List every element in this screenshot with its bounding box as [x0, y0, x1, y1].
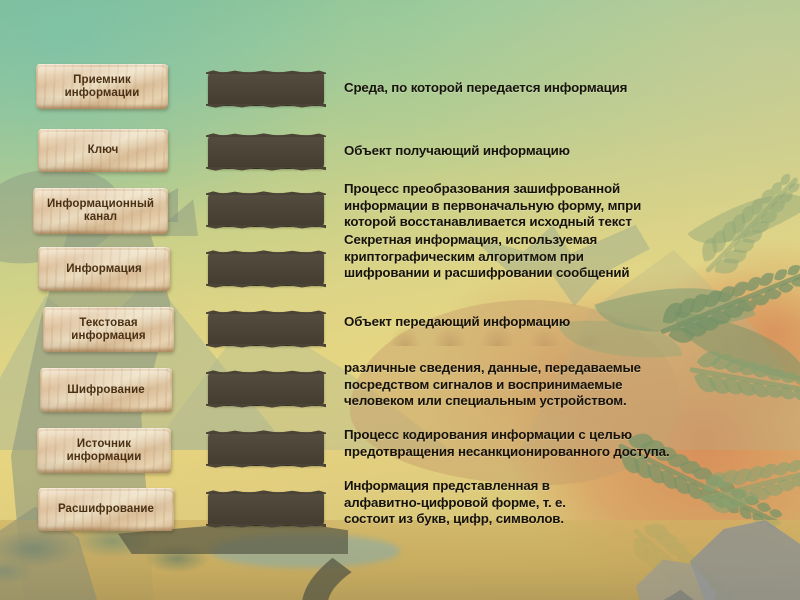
term-tile-label: Информация: [66, 263, 142, 276]
term-tile-3[interactable]: Информационный канал: [33, 188, 168, 234]
drop-zone-4[interactable]: [208, 252, 324, 286]
drop-zone-3[interactable]: [208, 193, 324, 227]
term-tile-2[interactable]: Ключ: [38, 129, 168, 172]
term-tile-8[interactable]: Расшифрование: [38, 488, 174, 531]
drop-zone-6[interactable]: [208, 372, 324, 406]
drop-zone-5[interactable]: [208, 312, 324, 346]
definition-text-7: Процесс кодирования информации с целью п…: [344, 427, 800, 460]
definition-text-1: Среда, по которой передается информация: [344, 80, 774, 97]
term-tile-7[interactable]: Источник информации: [37, 428, 171, 473]
definition-text-4: Секретная информация, используемая крипт…: [344, 232, 774, 282]
definition-text-2: Объект получающий информацию: [344, 143, 774, 160]
definition-text-8: Информация представленная в алфавитно-ци…: [344, 478, 774, 528]
definition-text-5: Объект передающий информацию: [344, 314, 774, 331]
term-tile-label: Шифрование: [67, 384, 144, 397]
term-tile-label: Расшифрование: [58, 503, 154, 516]
term-tile-label: Текстовая информация: [49, 317, 168, 343]
definition-text-6: различные сведения, данные, передаваемые…: [344, 360, 794, 410]
term-tile-label: Источник информации: [43, 438, 165, 464]
drop-zone-8[interactable]: [208, 492, 324, 526]
matching-board: Приемник информации Ключ Информационный …: [0, 0, 800, 600]
definition-text-3: Процесс преобразования зашифрованной инф…: [344, 181, 774, 231]
drop-zone-2[interactable]: [208, 135, 324, 169]
drop-zone-7[interactable]: [208, 432, 324, 466]
term-tile-6[interactable]: Шифрование: [40, 368, 172, 412]
term-tile-5[interactable]: Текстовая информация: [43, 307, 174, 352]
term-tile-1[interactable]: Приемник информации: [36, 64, 168, 109]
term-tile-label: Информационный канал: [39, 198, 162, 224]
term-tile-label: Приемник информации: [42, 74, 162, 100]
exercise-stage: Приемник информации Ключ Информационный …: [0, 0, 800, 600]
term-tile-4[interactable]: Информация: [38, 247, 170, 291]
drop-zone-1[interactable]: [208, 72, 324, 106]
term-tile-label: Ключ: [88, 144, 119, 157]
